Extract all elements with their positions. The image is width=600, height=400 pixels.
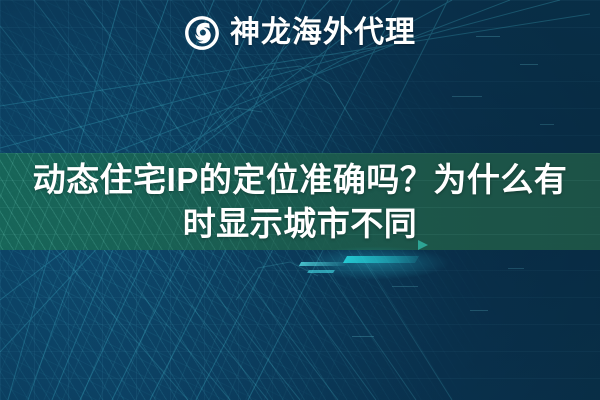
brand-logo: 神龙海外代理 [0, 12, 600, 54]
page-title: 动态住宅IP的定位准确吗？为什么有 时显示城市不同 [20, 158, 580, 246]
title-banner: 动态住宅IP的定位准确吗？为什么有 时显示城市不同 [0, 153, 600, 250]
brand-name: 神龙海外代理 [230, 18, 416, 48]
banner-image: 神龙海外代理 动态住宅IP的定位准确吗？为什么有 时显示城市不同 [0, 0, 600, 400]
page-title-line-2: 时显示城市不同 [20, 202, 580, 246]
page-title-line-1: 动态住宅IP的定位准确吗？为什么有 [20, 158, 580, 202]
swirl-dragon-icon [184, 15, 220, 51]
